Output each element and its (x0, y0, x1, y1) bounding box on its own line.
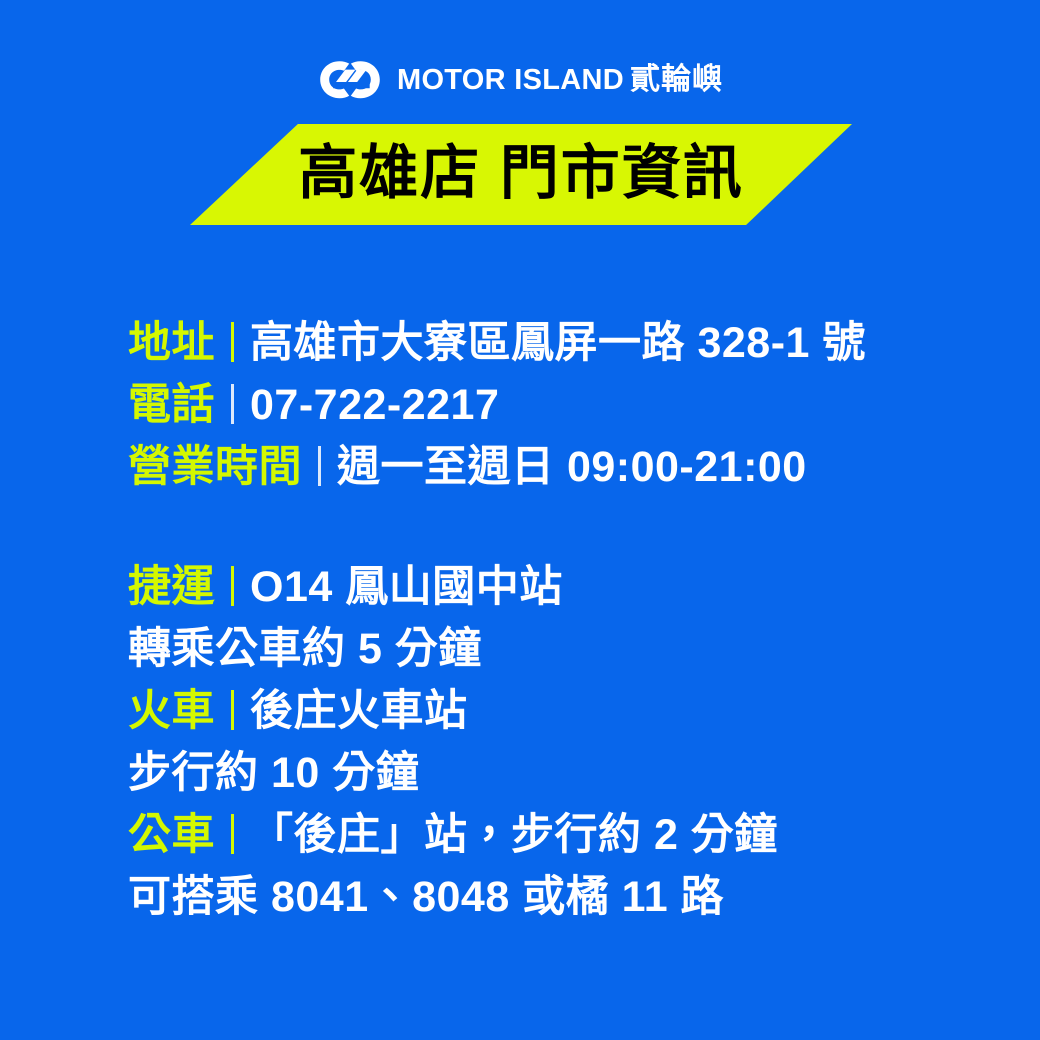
info-row-address: 地址 高雄市大寮區鳳屏一路 328-1 號 (128, 312, 988, 374)
brand-name-cjk: 貳輪嶼 (630, 63, 723, 96)
info-row-train: 火車 後庄火車站 (128, 680, 988, 742)
row-separator (231, 814, 234, 854)
info-row-hours: 營業時間 週一至週日 09:00-21:00 (128, 436, 988, 498)
motor-island-monogram-icon (317, 60, 383, 100)
brand-name-latin: MOTOR ISLAND (397, 64, 624, 96)
info-note-train: 步行約 10 分鐘 (128, 742, 988, 804)
row-separator (231, 322, 234, 362)
page-title: 高雄店 門市資訊 (190, 124, 852, 225)
info-note-bus: 可搭乘 8041、8048 或橘 11 路 (128, 866, 988, 928)
row-separator (231, 566, 234, 606)
row-separator (231, 690, 234, 730)
info-row-phone: 電話 07-722-2217 (128, 374, 988, 436)
info-row-bus: 公車 「後庄」站，步行約 2 分鐘 (128, 804, 988, 866)
info-label-hours: 營業時間 (128, 436, 302, 498)
info-label-address: 地址 (128, 312, 215, 374)
transit-info-group: 捷運 O14 鳳山國中站 轉乘公車約 5 分鐘 火車 後庄火車站 步行約 10 … (128, 556, 988, 928)
info-value-train: 後庄火車站 (250, 680, 468, 742)
row-separator (318, 446, 321, 486)
title-banner: 高雄店 門市資訊 (190, 124, 852, 225)
info-value-phone: 07-722-2217 (250, 374, 499, 436)
brand-header: MOTOR ISLAND貳輪嶼 (0, 52, 1040, 108)
brand-wordmark: MOTOR ISLAND貳輪嶼 (397, 65, 723, 95)
store-info-group: 地址 高雄市大寮區鳳屏一路 328-1 號 電話 07-722-2217 營業時… (128, 312, 988, 498)
info-value-hours: 週一至週日 09:00-21:00 (337, 436, 807, 498)
info-label-train: 火車 (128, 680, 215, 742)
info-panel: 地址 高雄市大寮區鳳屏一路 328-1 號 電話 07-722-2217 營業時… (128, 312, 988, 928)
info-value-bus: 「後庄」站，步行約 2 分鐘 (250, 804, 778, 866)
info-value-address: 高雄市大寮區鳳屏一路 328-1 號 (250, 312, 866, 374)
info-label-bus: 公車 (128, 804, 215, 866)
info-label-metro: 捷運 (128, 556, 215, 618)
info-note-metro: 轉乘公車約 5 分鐘 (128, 618, 988, 680)
info-row-metro: 捷運 O14 鳳山國中站 (128, 556, 988, 618)
info-label-phone: 電話 (128, 374, 215, 436)
row-separator (231, 384, 234, 424)
info-value-metro: O14 鳳山國中站 (250, 556, 563, 618)
